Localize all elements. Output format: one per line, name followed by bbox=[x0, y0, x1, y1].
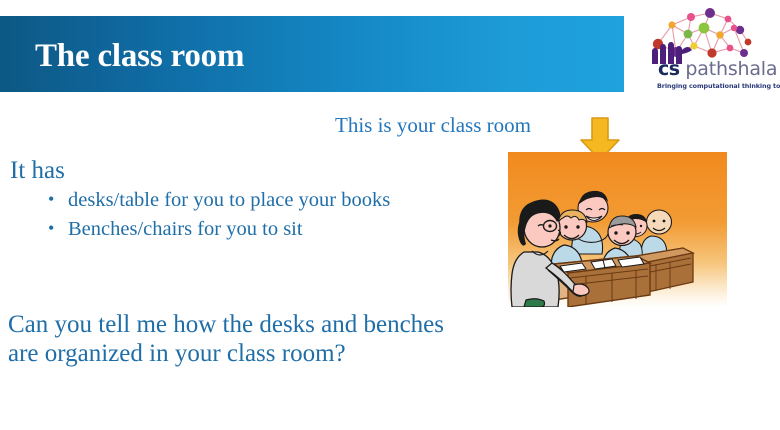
list-item: Benches/chairs for you to sit bbox=[46, 218, 446, 241]
classroom-illustration-svg bbox=[508, 152, 727, 307]
logo-wordmark: cs pathshala bbox=[658, 58, 777, 80]
logo-name-bold: cs bbox=[658, 58, 680, 80]
question-text: Can you tell me how the desks and benche… bbox=[8, 310, 478, 368]
network-nodes-icon bbox=[636, 8, 780, 64]
intro-text: It has bbox=[10, 157, 65, 185]
page-title: The class room bbox=[35, 38, 244, 75]
title-bar: The class room bbox=[0, 16, 624, 92]
list-item: desks/table for you to place your books bbox=[46, 189, 446, 212]
logo-name-light: pathshala bbox=[680, 58, 778, 80]
logo-tagline: Bringing computational thinking to schoo… bbox=[657, 82, 780, 90]
feature-bullet-list: desks/table for you to place your books … bbox=[46, 189, 446, 247]
classroom-illustration bbox=[508, 152, 727, 307]
cs-pathshala-logo: cs pathshala Bringing computational thin… bbox=[636, 6, 780, 98]
picture-caption: This is your class room bbox=[335, 113, 531, 138]
slide: The class room bbox=[0, 0, 780, 430]
